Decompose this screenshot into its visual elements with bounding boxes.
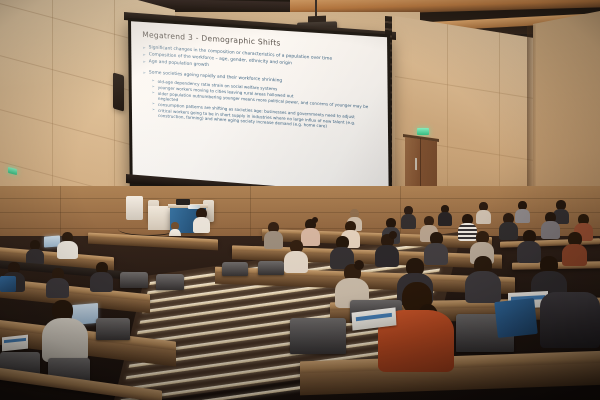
audience-member-foreground-orange [378,282,456,372]
auditorium-seat[interactable] [222,262,248,276]
presentation-slide: Megatrend 3 - Demographic Shifts ➢ Signi… [131,21,389,199]
handout-paper[interactable] [2,335,28,352]
lecture-hall-scene: Megatrend 3 - Demographic Shifts ➢ Signi… [0,0,600,400]
projection-screen: Megatrend 3 - Demographic Shifts ➢ Signi… [128,18,392,203]
auditorium-seat[interactable] [120,272,148,288]
bullet-marker-icon: ➢ [142,52,145,58]
bullet-marker-icon: ➢ [142,59,145,65]
bullet-marker-icon: ➢ [152,107,155,118]
exit-sign-right [417,128,429,135]
bullet-marker-icon: ➢ [152,101,155,107]
bullet-marker-icon: ➢ [152,84,155,90]
door-handle[interactable] [415,158,417,170]
auditorium-seat[interactable] [96,318,130,340]
bullet-marker-icon: ➢ [142,45,145,51]
auditorium-seat[interactable] [156,274,184,290]
bullet-marker-icon: ➢ [152,90,155,101]
wall-speaker [113,72,124,111]
air-purifier [126,196,143,220]
auditorium-seat[interactable] [258,261,284,275]
audience-member-foreground-right [540,292,600,352]
backpack [0,276,16,292]
bullet-marker-icon: ➢ [143,70,146,76]
bullet-marker-icon: ➢ [152,78,155,84]
audience-member-foreground-left [42,300,92,362]
backpack [494,298,538,338]
auditorium-seat[interactable] [290,318,346,354]
